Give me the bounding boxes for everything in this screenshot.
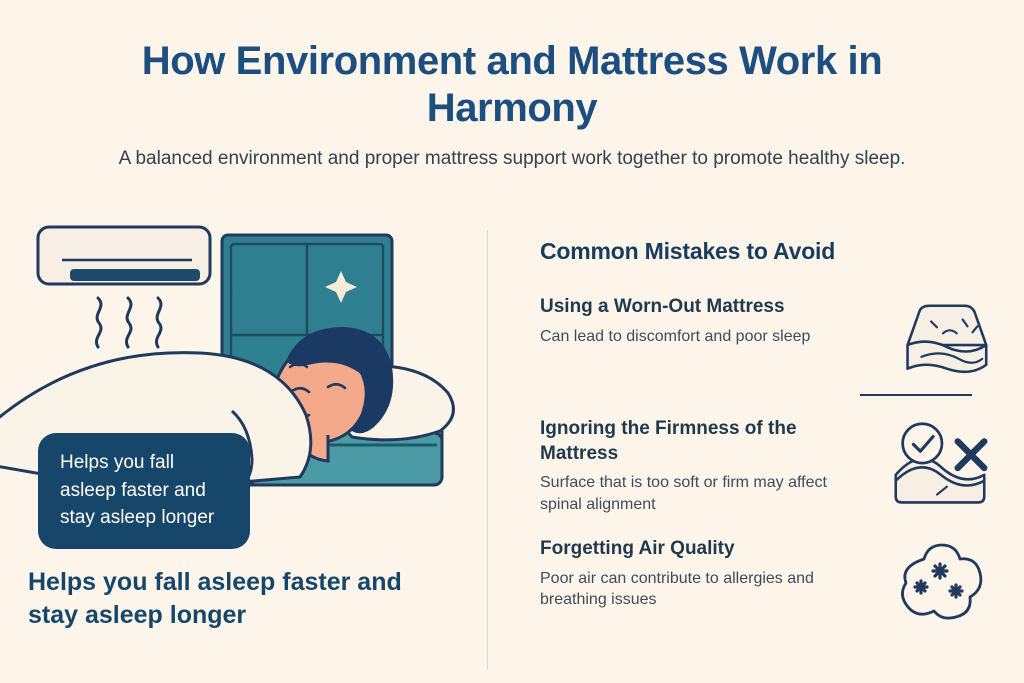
air-particles-cloud-icon bbox=[880, 537, 1000, 635]
mistake-item: Using a Worn-Out Mattress Can lead to di… bbox=[540, 295, 1000, 401]
callout-line-3: stay asleep longer bbox=[60, 504, 232, 532]
mistake-text-block: Using a Worn-Out Mattress Can lead to di… bbox=[540, 295, 830, 347]
callout-line-1: Helps you fall bbox=[60, 449, 232, 477]
mistake-description: Surface that is too soft or firm may aff… bbox=[540, 472, 830, 515]
page-subtitle: A balanced environment and proper mattre… bbox=[112, 146, 912, 173]
common-mistakes-title: Common Mistakes to Avoid bbox=[540, 238, 1000, 265]
mistake-item: Ignoring the Firmness of the Mattress Su… bbox=[540, 417, 1000, 515]
cross-icon bbox=[958, 441, 985, 468]
benefit-callout: Helps you fall asleep faster and stay as… bbox=[38, 433, 250, 549]
mistake-description: Can lead to discomfort and poor sleep bbox=[540, 326, 830, 347]
icon-separator-rule bbox=[860, 394, 972, 396]
check-and-cross-mattress-icon bbox=[880, 417, 1000, 515]
mistake-description: Poor air can contribute to allergies and… bbox=[540, 568, 830, 611]
mistake-heading: Forgetting Air Quality bbox=[540, 537, 830, 562]
column-divider bbox=[487, 230, 488, 670]
airflow-waves-icon bbox=[96, 298, 161, 347]
left-benefit-heading: Helps you fall asleep faster and stay as… bbox=[28, 566, 458, 633]
check-circle-icon bbox=[903, 424, 942, 463]
common-mistakes-section: Common Mistakes to Avoid Using a Worn-Ou… bbox=[540, 238, 1000, 653]
mistake-heading: Ignoring the Firmness of the Mattress bbox=[540, 417, 830, 466]
mistake-text-block: Ignoring the Firmness of the Mattress Su… bbox=[540, 417, 830, 515]
mistake-item: Forgetting Air Quality Poor air can cont… bbox=[540, 537, 1000, 635]
sagging-mattress-icon bbox=[880, 295, 1000, 401]
infographic-page: How Environment and Mattress Work in Har… bbox=[0, 0, 1024, 683]
header: How Environment and Mattress Work in Har… bbox=[0, 38, 1024, 173]
mistake-heading: Using a Worn-Out Mattress bbox=[540, 295, 830, 320]
mistake-text-block: Forgetting Air Quality Poor air can cont… bbox=[540, 537, 830, 610]
page-title: How Environment and Mattress Work in Har… bbox=[72, 38, 952, 132]
air-conditioner-icon bbox=[38, 227, 210, 284]
callout-line-2: asleep faster and bbox=[60, 477, 232, 505]
